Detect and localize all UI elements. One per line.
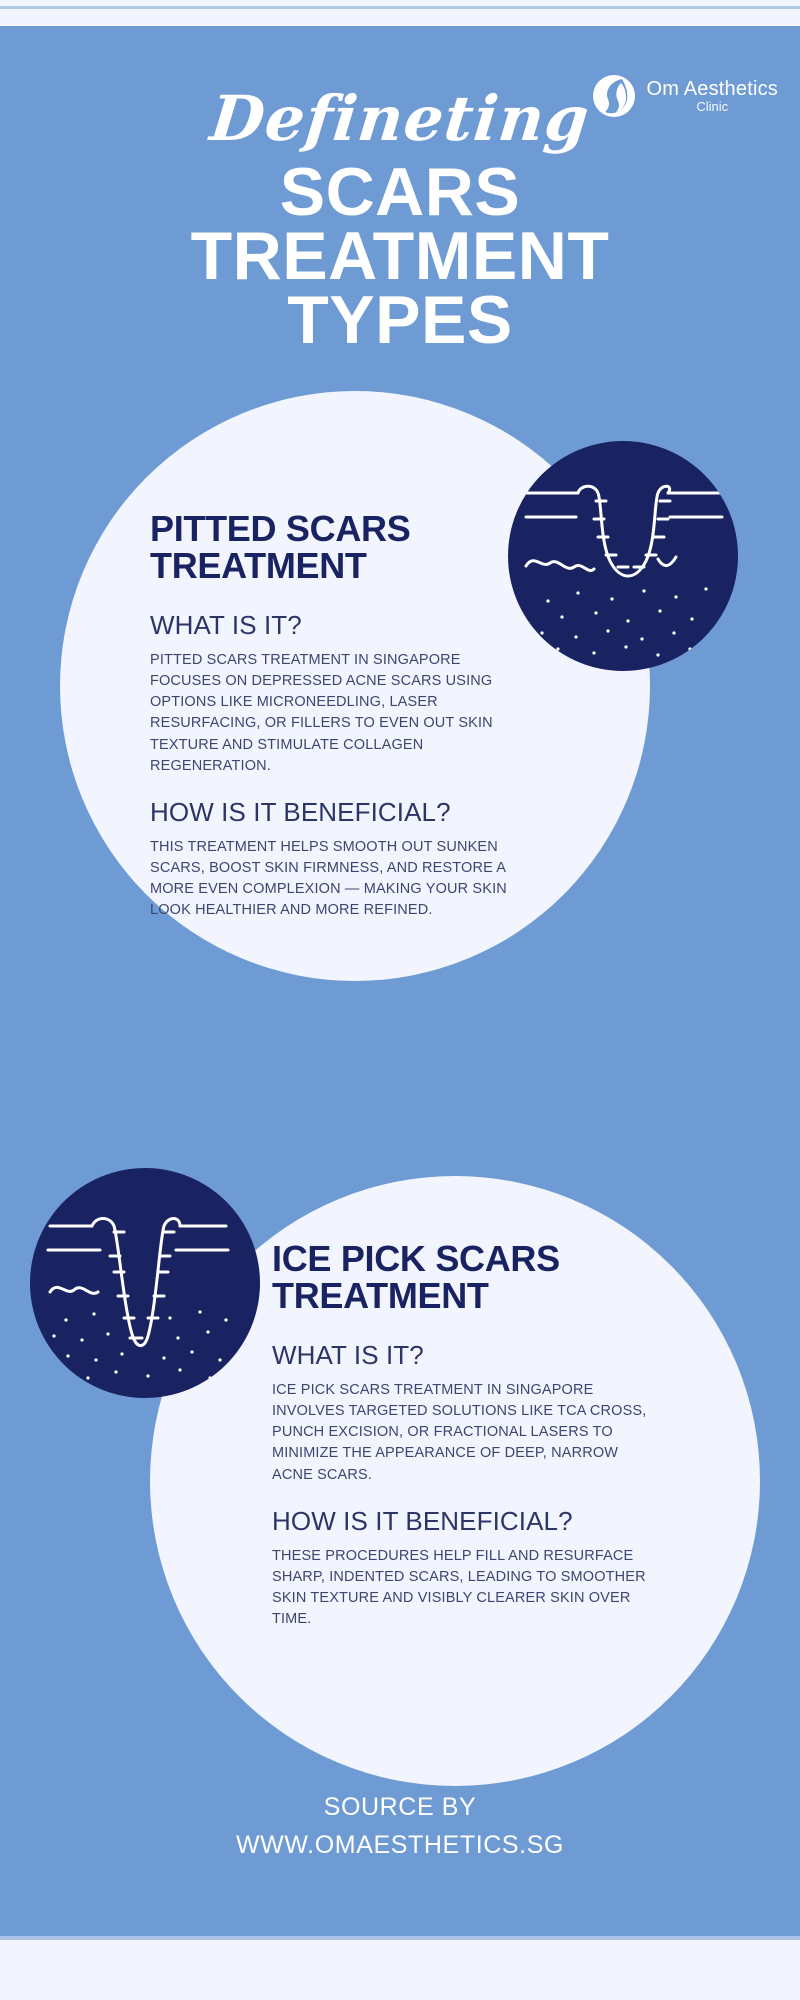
card-2-section-1-heading: WHAT IS IT?	[272, 1340, 662, 1371]
card-2-section-2-heading: HOW IS IT BENEFICIAL?	[272, 1506, 662, 1537]
logo-sub: Clinic	[696, 100, 728, 114]
card-2-section-1-body: ICE PICK SCARS TREATMENT IN SINGAPORE IN…	[272, 1380, 662, 1485]
source-label: SOURCE BY	[0, 1789, 800, 1827]
card-1-section-1-body: PITTED SCARS TREATMENT IN SINGAPORE FOCU…	[150, 650, 520, 776]
headline-line-1: SCARS	[0, 161, 800, 225]
footer: SOURCE BY WWW.OMAESTHETICS.SG	[0, 1789, 800, 1864]
headline-line-2: TREATMENT	[0, 225, 800, 289]
card-1-title-line-2: TREATMENT	[150, 548, 520, 585]
woman-face-silhouette-icon	[592, 74, 636, 118]
bottom-divider	[0, 1936, 800, 1940]
card-2-title: ICE PICK SCARS TREATMENT	[272, 1241, 662, 1314]
card-1-title: PITTED SCARS TREATMENT	[150, 511, 520, 584]
card-2-title-line-1: ICE PICK SCARS	[272, 1241, 662, 1278]
ice-pick-scar-cross-section-icon	[30, 1168, 260, 1398]
pitted-scar-cross-section-icon	[508, 441, 738, 671]
card-2-section-2-body: THESE PROCEDURES HELP FILL AND RESURFACE…	[272, 1546, 662, 1630]
card-1-section-1-heading: WHAT IS IT?	[150, 610, 520, 641]
page-title: SCARS TREATMENT TYPES	[0, 161, 800, 353]
card-1-section-2-body: THIS TREATMENT HELPS SMOOTH OUT SUNKEN S…	[150, 837, 520, 921]
headline-line-3: TYPES	[0, 289, 800, 353]
infographic-page: Defineting SCARS TREATMENT TYPES Om Aest…	[0, 0, 800, 2000]
logo-name: Om Aesthetics	[646, 79, 778, 100]
top-divider	[0, 6, 800, 9]
infographic-canvas: Defineting SCARS TREATMENT TYPES Om Aest…	[0, 26, 800, 1936]
card-1-title-line-1: PITTED SCARS	[150, 511, 520, 548]
website-link[interactable]: WWW.OMAESTHETICS.SG	[0, 1827, 800, 1865]
card-1-content: PITTED SCARS TREATMENT WHAT IS IT? PITTE…	[150, 511, 520, 921]
card-2-title-line-2: TREATMENT	[272, 1278, 662, 1315]
card-2-content: ICE PICK SCARS TREATMENT WHAT IS IT? ICE…	[272, 1241, 662, 1630]
card-1-section-2-heading: HOW IS IT BENEFICIAL?	[150, 797, 520, 828]
brand-logo[interactable]: Om Aesthetics Clinic	[592, 74, 778, 118]
